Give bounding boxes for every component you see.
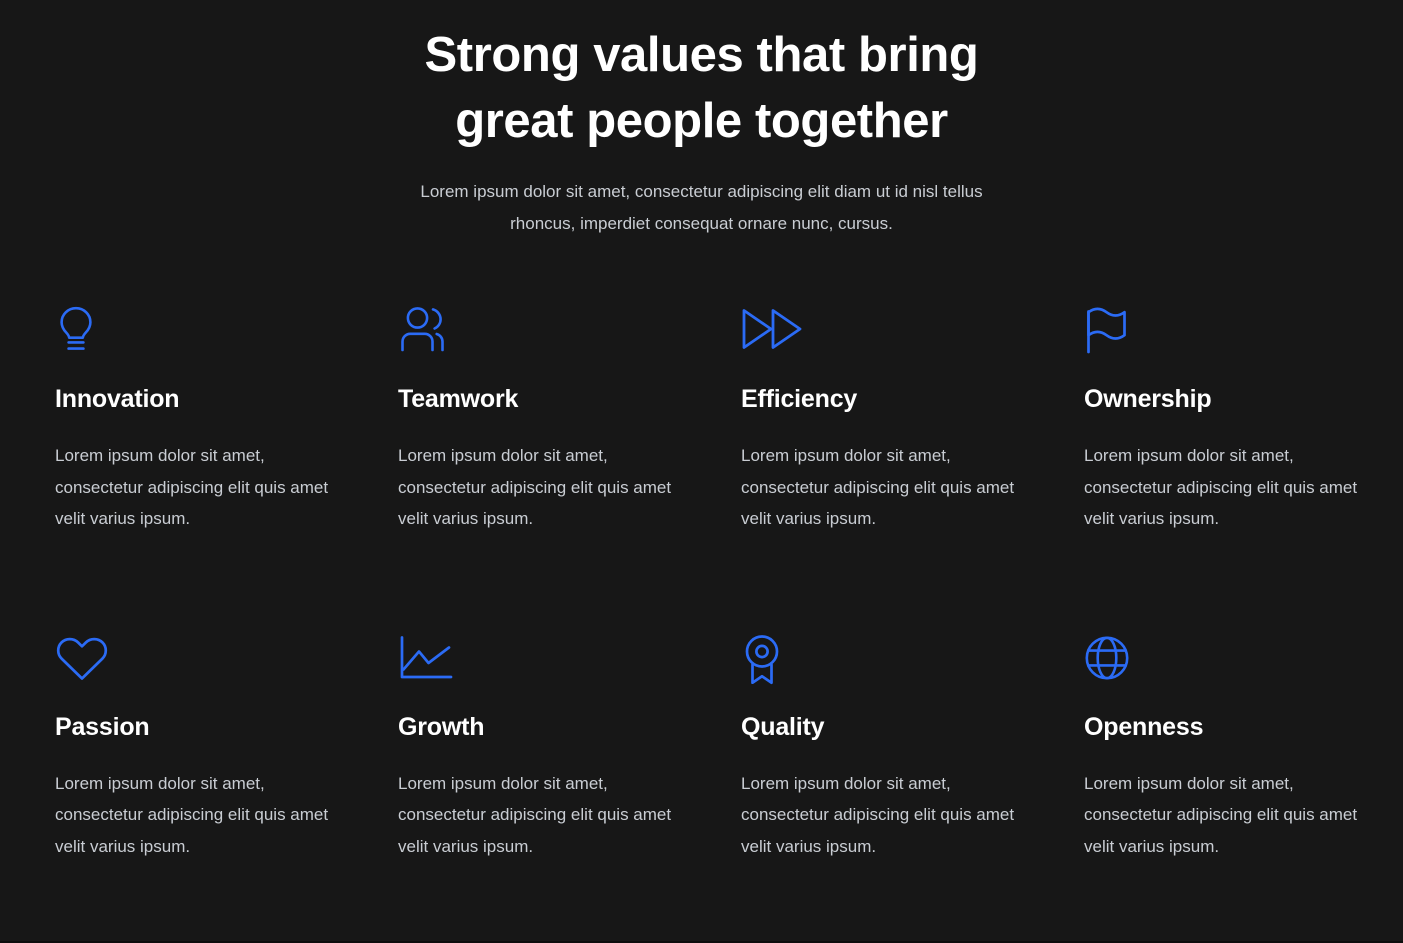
heart-icon bbox=[55, 634, 398, 686]
fast-forward-icon bbox=[741, 306, 1084, 358]
lightbulb-icon bbox=[55, 306, 398, 358]
value-description: Lorem ipsum dolor sit amet, consectetur … bbox=[741, 440, 1026, 535]
value-card-ownership: Ownership Lorem ipsum dolor sit amet, co… bbox=[1084, 306, 1403, 535]
value-description: Lorem ipsum dolor sit amet, consectetur … bbox=[1084, 440, 1369, 535]
value-card-openness: Openness Lorem ipsum dolor sit amet, con… bbox=[1084, 634, 1403, 863]
value-title: Efficiency bbox=[741, 384, 1084, 414]
flag-icon bbox=[1084, 306, 1403, 358]
value-card-teamwork: Teamwork Lorem ipsum dolor sit amet, con… bbox=[398, 306, 741, 535]
value-title: Innovation bbox=[55, 384, 398, 414]
values-section: Strong values that bring great people to… bbox=[0, 0, 1403, 943]
value-description: Lorem ipsum dolor sit amet, consectetur … bbox=[55, 440, 340, 535]
value-card-efficiency: Efficiency Lorem ipsum dolor sit amet, c… bbox=[741, 306, 1084, 535]
page-subtitle: Lorem ipsum dolor sit amet, consectetur … bbox=[402, 176, 1002, 240]
value-description: Lorem ipsum dolor sit amet, consectetur … bbox=[1084, 768, 1369, 863]
section-header: Strong values that bring great people to… bbox=[0, 0, 1403, 240]
value-card-passion: Passion Lorem ipsum dolor sit amet, cons… bbox=[55, 634, 398, 863]
users-icon bbox=[398, 306, 741, 358]
value-title: Ownership bbox=[1084, 384, 1403, 414]
value-title: Teamwork bbox=[398, 384, 741, 414]
value-title: Passion bbox=[55, 712, 398, 742]
page-title: Strong values that bring great people to… bbox=[372, 22, 1032, 154]
value-description: Lorem ipsum dolor sit amet, consectetur … bbox=[398, 440, 683, 535]
value-description: Lorem ipsum dolor sit amet, consectetur … bbox=[55, 768, 340, 863]
value-card-growth: Growth Lorem ipsum dolor sit amet, conse… bbox=[398, 634, 741, 863]
values-grid: Innovation Lorem ipsum dolor sit amet, c… bbox=[55, 306, 1350, 862]
value-title: Openness bbox=[1084, 712, 1403, 742]
value-description: Lorem ipsum dolor sit amet, consectetur … bbox=[741, 768, 1026, 863]
value-title: Growth bbox=[398, 712, 741, 742]
value-title: Quality bbox=[741, 712, 1084, 742]
line-chart-icon bbox=[398, 634, 741, 686]
value-description: Lorem ipsum dolor sit amet, consectetur … bbox=[398, 768, 683, 863]
page-title-line-1: Strong values that bring bbox=[425, 28, 979, 82]
award-medal-icon bbox=[741, 634, 1084, 686]
page-title-line-2: great people together bbox=[455, 94, 948, 148]
globe-icon bbox=[1084, 634, 1403, 686]
value-card-innovation: Innovation Lorem ipsum dolor sit amet, c… bbox=[55, 306, 398, 535]
value-card-quality: Quality Lorem ipsum dolor sit amet, cons… bbox=[741, 634, 1084, 863]
